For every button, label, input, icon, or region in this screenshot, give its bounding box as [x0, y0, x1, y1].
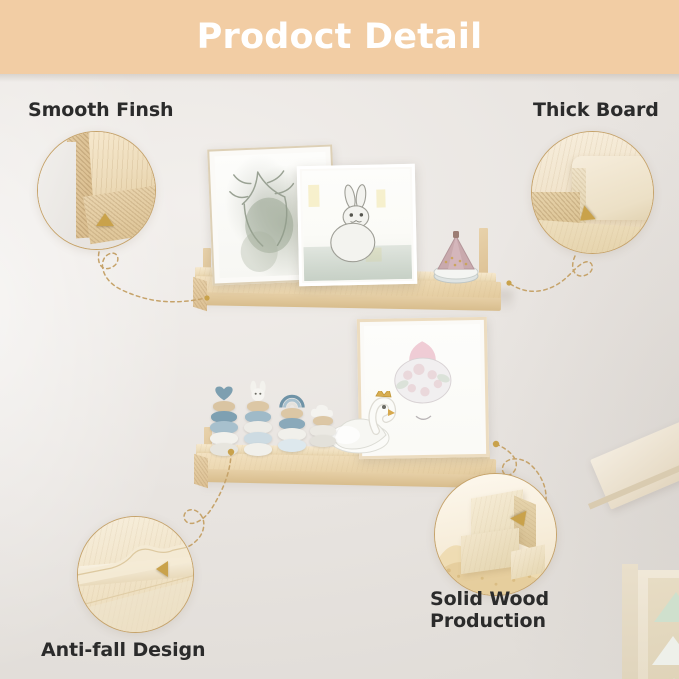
- label-anti-fall: Anti-fall Design: [41, 639, 205, 661]
- label-smooth-finish: Smooth Finsh: [28, 99, 173, 121]
- label-solid-wood: Solid Wood Production: [430, 588, 549, 633]
- rabbit-art-canvas: [302, 169, 412, 281]
- label-thick-board: Thick Board: [533, 99, 659, 121]
- product-detail-image: Prodoct Detail: [0, 0, 679, 679]
- connector-smooth-finish: [98, 252, 206, 302]
- callout-bubble-thick-board: [531, 131, 654, 254]
- page-title: Prodoct Detail: [197, 20, 483, 55]
- cloud-stacking-toy: [310, 404, 336, 458]
- house-left-wall: [622, 564, 638, 679]
- upper-shelf-end-cap: [193, 277, 207, 312]
- header-banner: Prodoct Detail: [0, 0, 679, 74]
- house-roof: [590, 408, 679, 509]
- callout-bubble-anti-fall: [77, 516, 194, 633]
- upper-shelf: [195, 250, 515, 325]
- rabbit-art-print: [297, 164, 417, 286]
- anti-fall-arrow-icon: [156, 561, 168, 577]
- house-figurine: [430, 228, 482, 284]
- swan-figurine: [326, 391, 398, 457]
- anti-fall-lip-profile: [78, 517, 193, 632]
- bunny-stacking-toy: [244, 382, 272, 458]
- smooth-finish-arrow-icon: [96, 213, 114, 226]
- callout-bubble-smooth-finish: [37, 131, 156, 250]
- lower-shelf-end-cap: [194, 454, 208, 489]
- heart-stacking-toy: [210, 386, 238, 458]
- smooth-finish-wall: [37, 142, 76, 250]
- block-triangle-green: [654, 592, 679, 622]
- connector-thick-board: [509, 256, 592, 291]
- block-triangle-white: [652, 636, 679, 665]
- house-interior: [648, 578, 679, 679]
- house-shaped-bookcase: [596, 452, 679, 679]
- callout-bubble-solid-wood: [434, 473, 557, 596]
- rainbow-stacking-toy: [278, 394, 306, 458]
